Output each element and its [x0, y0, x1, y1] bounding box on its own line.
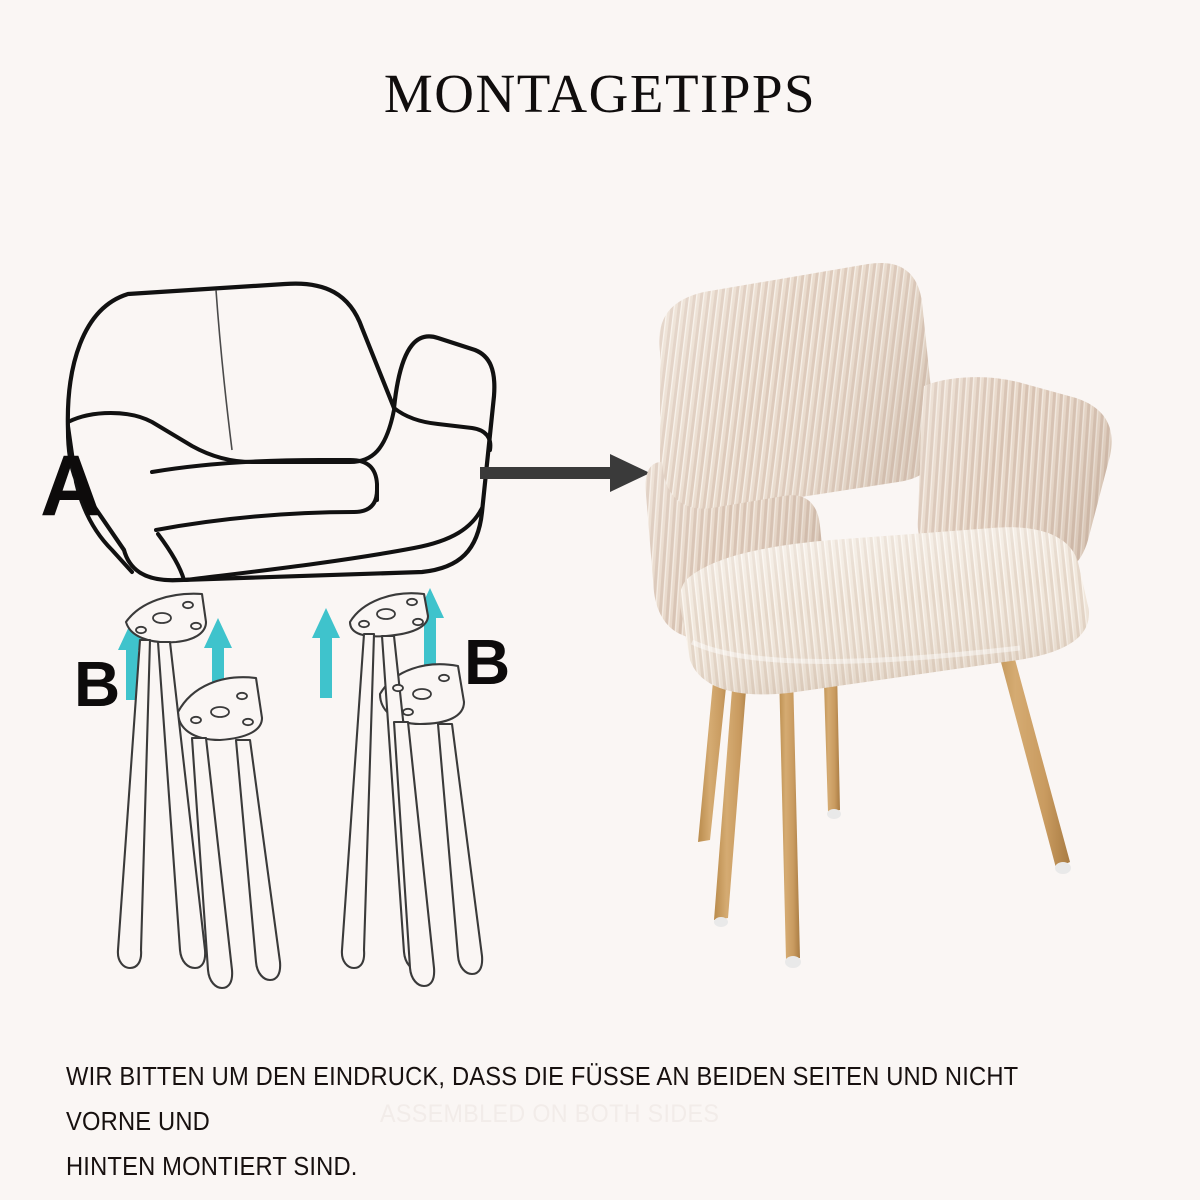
diagram-label-b-left: B: [74, 652, 120, 716]
assembly-arrow-3: [312, 608, 340, 698]
diagram-label-a: A: [40, 443, 102, 529]
assembly-instruction-page: MONTAGETIPPS: [0, 0, 1200, 1200]
leg-assembly-left: [118, 594, 280, 988]
caption-line-2: HINTEN MONTIERT SIND.: [66, 1145, 1061, 1190]
photo-panel: [600, 250, 1180, 1010]
leg-assembly-right: [342, 593, 482, 986]
foot-cap-front-center: [785, 956, 801, 968]
chair-shell-outline: [68, 284, 495, 581]
caption-ghost-text: ASSEMBLED ON BOTH SIDES: [380, 1092, 719, 1136]
diagram-label-b-right: B: [464, 630, 510, 694]
page-title: MONTAGETIPPS: [0, 66, 1200, 121]
foot-cap-front-left: [714, 917, 728, 927]
chair-product-photo: [600, 250, 1180, 1010]
foot-cap-right: [1055, 862, 1071, 874]
chair-backrest: [659, 263, 936, 513]
foot-cap-rear-center: [827, 809, 841, 819]
